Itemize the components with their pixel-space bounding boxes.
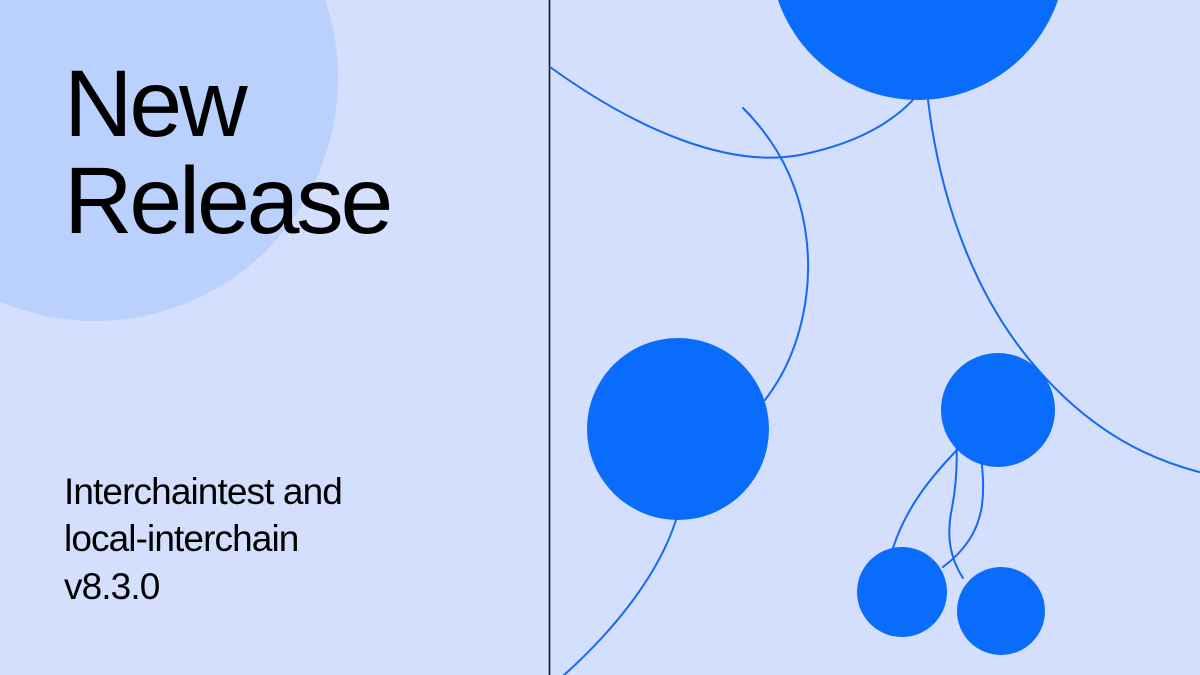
node-small-left [857, 547, 947, 637]
node-small-right [957, 567, 1045, 655]
background-graphic [0, 0, 1200, 675]
node-large-center [587, 338, 769, 520]
release-announcement-card: New Release Interchaintest and local-int… [0, 0, 1200, 675]
node-medium-right [941, 353, 1055, 467]
